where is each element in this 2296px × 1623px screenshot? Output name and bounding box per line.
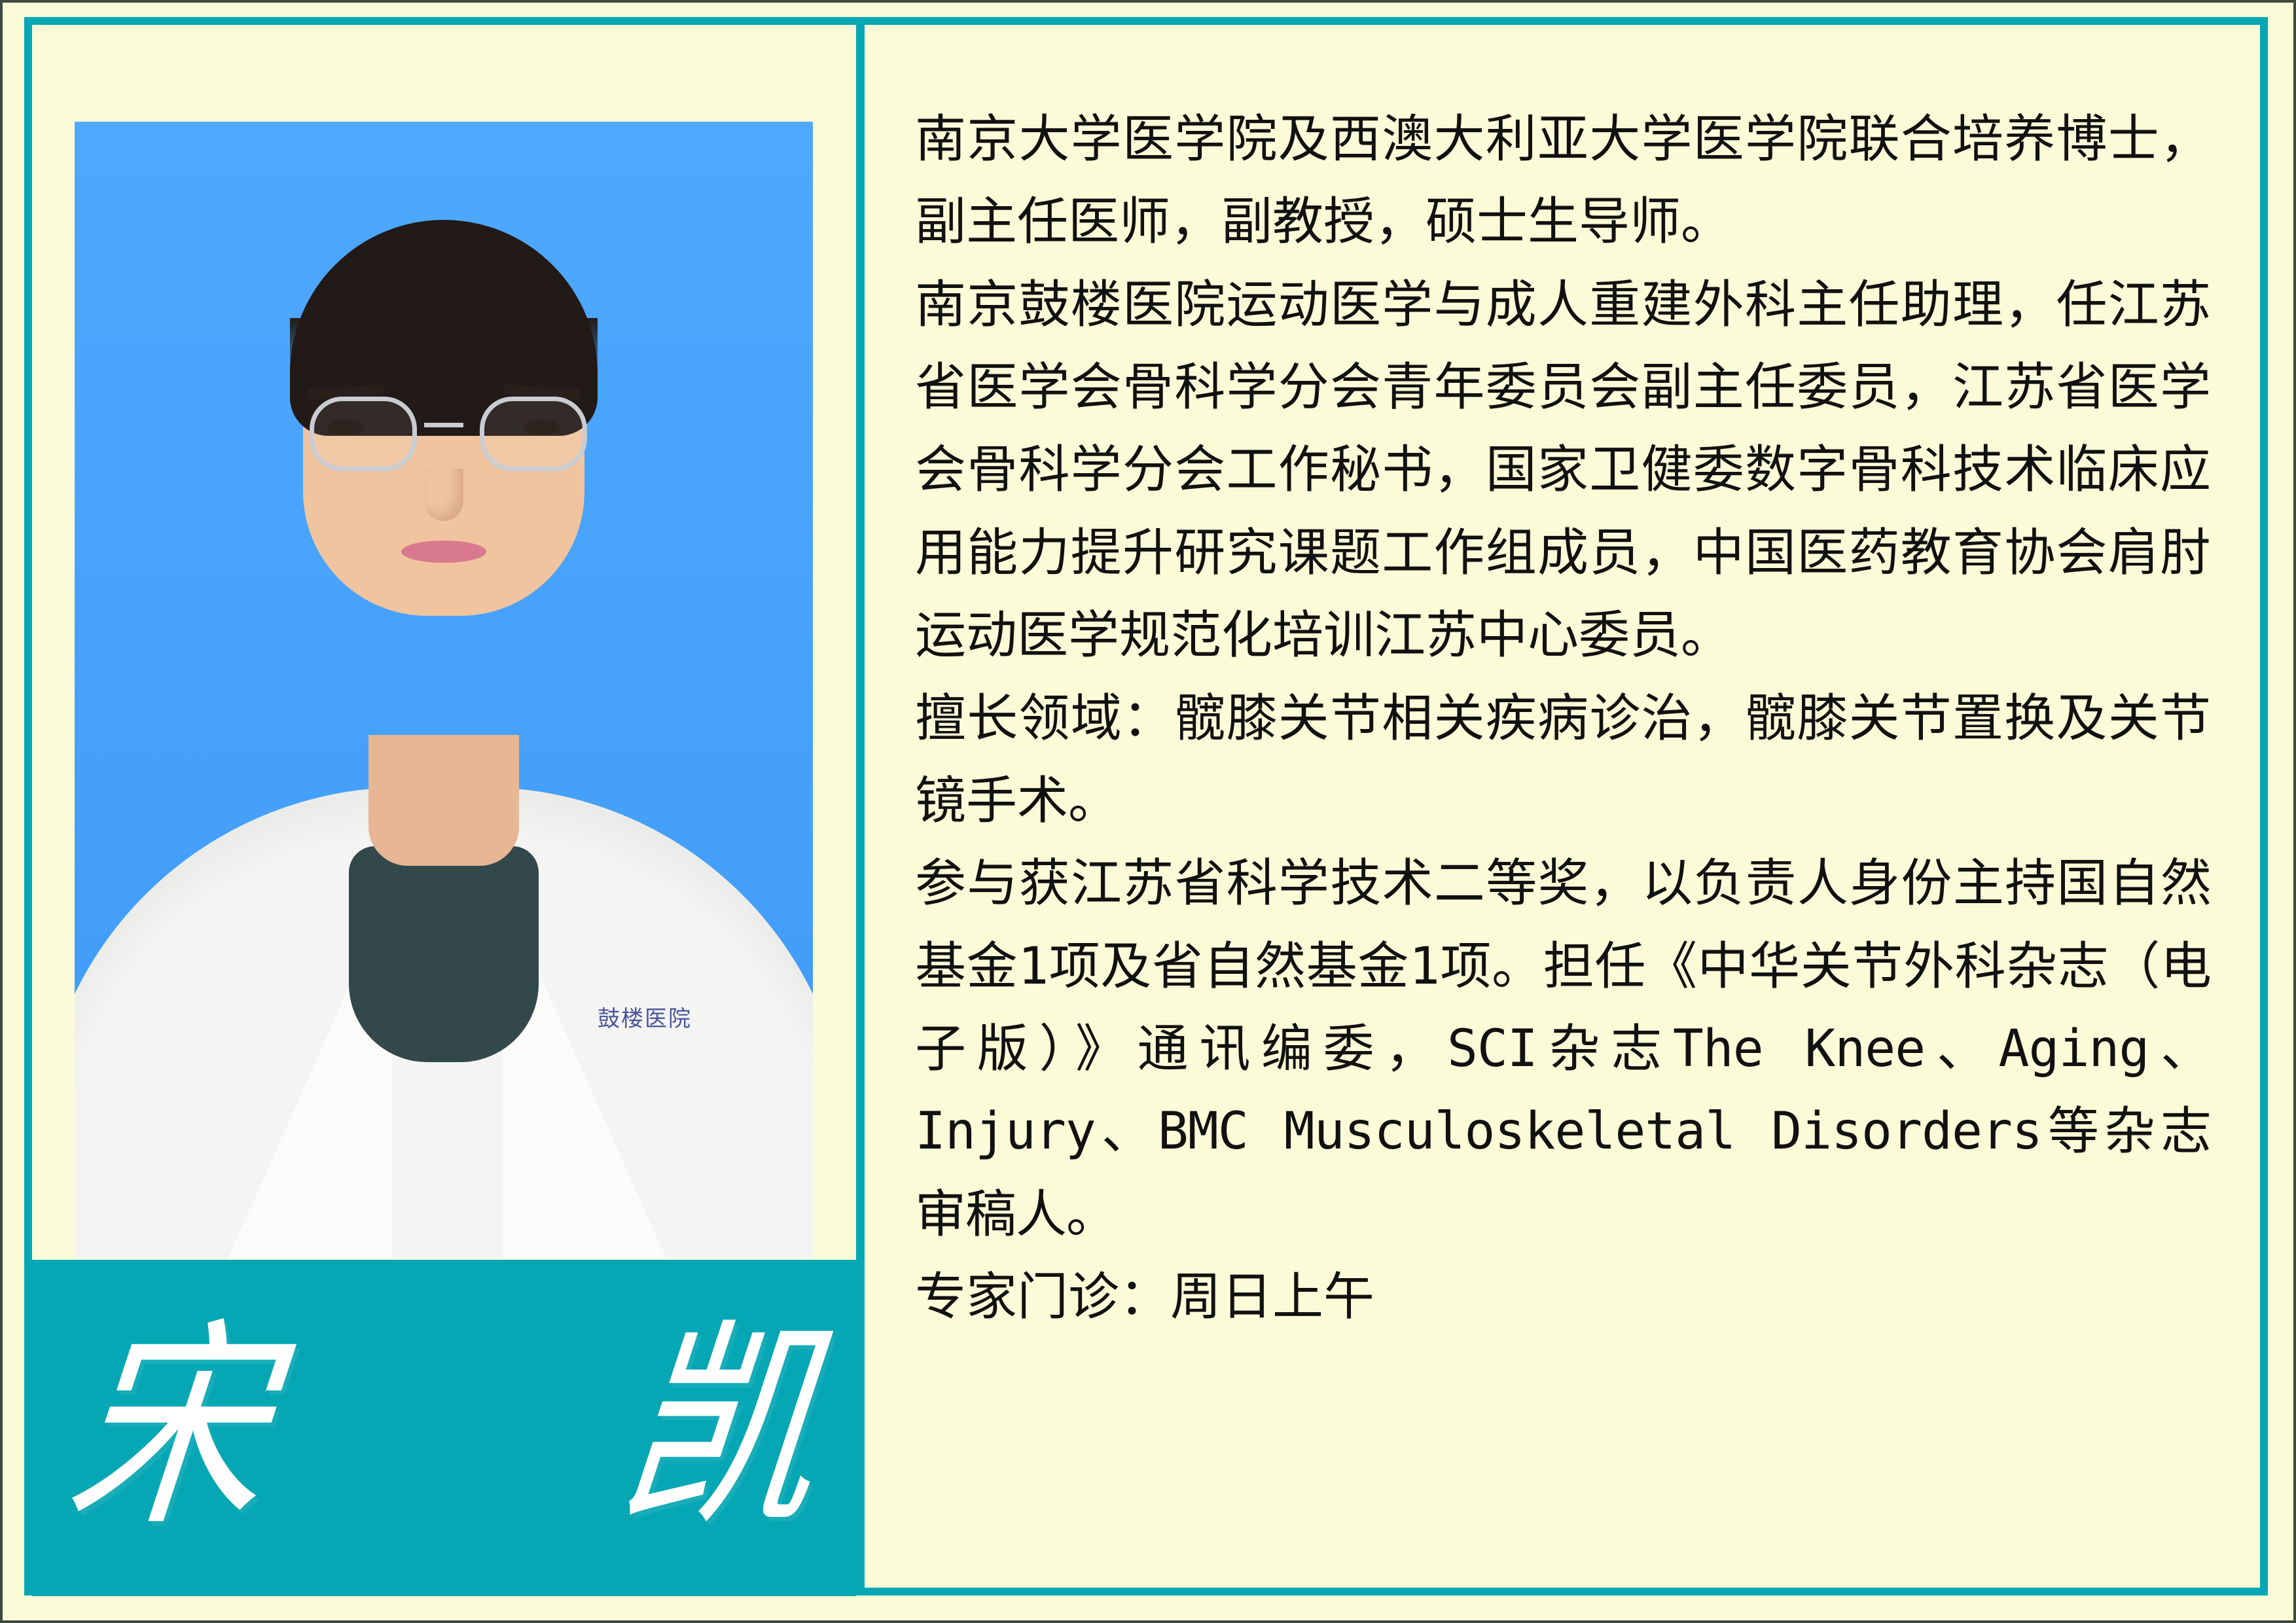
photo-eye-left bbox=[327, 419, 364, 435]
photo-nose bbox=[424, 469, 463, 521]
photo-glasses-bridge bbox=[424, 423, 463, 427]
name-banner: 宋 凯 bbox=[32, 1260, 856, 1596]
bio-paragraph-awards: 参与获江苏省科学技术二等奖，以负责人身份主持国自然基金1项及省自然基金1项。担任… bbox=[915, 842, 2211, 1256]
doctor-photo: 鼓楼医院 bbox=[75, 122, 813, 1258]
bio-paragraph-credentials: 南京大学医学院及西澳大利亚大学医学院联合培养博士，副主任医师，副教授，硕士生导师… bbox=[915, 98, 2211, 264]
coat-badge-text: 鼓楼医院 bbox=[598, 1001, 692, 1033]
photo-eye-right bbox=[524, 419, 560, 435]
doctor-profile-card: 鼓楼医院 宋 凯 南京大学医学院及西澳大利亚大学医学院联合培养博士，副主任医师，… bbox=[0, 0, 2296, 1623]
photo-mouth bbox=[401, 541, 486, 563]
doctor-name: 宋 凯 bbox=[0, 1318, 907, 1538]
bio-paragraph-clinic-hours: 专家门诊：周日上午 bbox=[915, 1256, 2211, 1338]
biography-panel: 南京大学医学院及西澳大利亚大学医学院联合培养博士，副主任医师，副教授，硕士生导师… bbox=[915, 98, 2211, 1338]
photo-neck bbox=[368, 735, 519, 866]
photo-glasses-left-lens bbox=[310, 397, 417, 471]
bio-paragraph-positions: 南京鼓楼医院运动医学与成人重建外科主任助理，任江苏省医学会骨科学分会青年委员会副… bbox=[915, 264, 2211, 677]
bio-paragraph-specialties: 擅长领域：髋膝关节相关疾病诊治，髋膝关节置换及关节镜手术。 bbox=[915, 677, 2211, 843]
photo-hair-shadow bbox=[290, 318, 598, 397]
